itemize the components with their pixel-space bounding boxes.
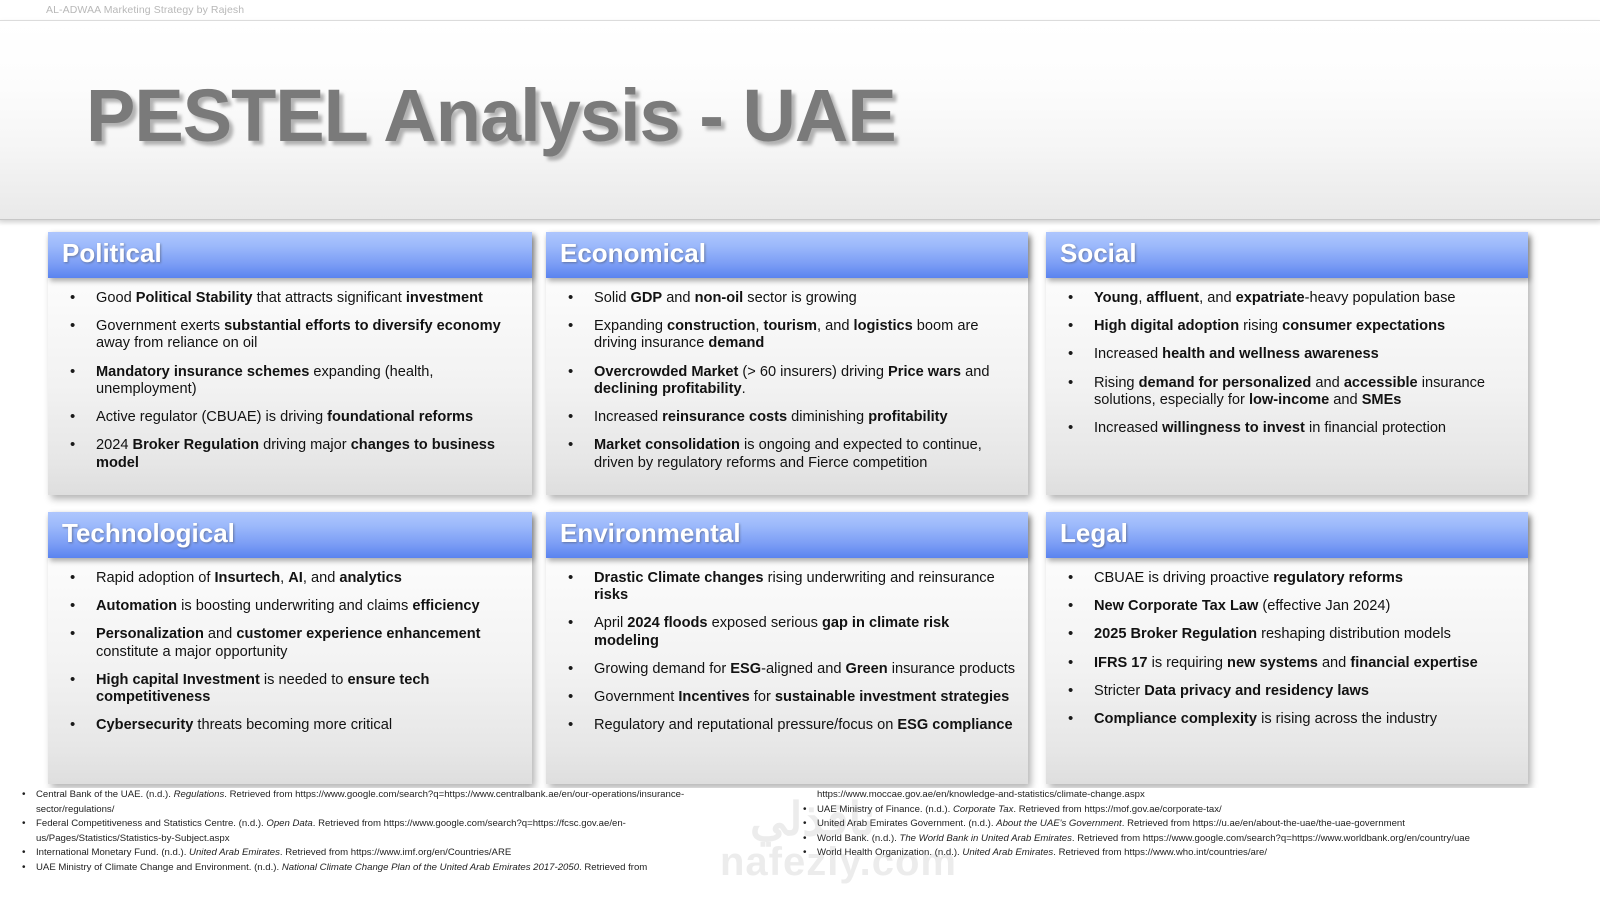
card-header-environmental: Environmental	[546, 512, 1028, 558]
bullet-list-environmental: Drastic Climate changes rising underwrit…	[556, 570, 1016, 735]
list-item: Expanding construction, tourism, and log…	[556, 318, 1016, 352]
pestel-card-political[interactable]: Political Good Political Stability that …	[48, 232, 532, 495]
list-item: 2024 Broker Regulation driving major cha…	[58, 437, 520, 471]
card-header-technological: Technological	[48, 512, 532, 558]
card-body-technological: Rapid adoption of Insurtech, AI, and ana…	[48, 558, 532, 754]
pestel-card-social[interactable]: Social Young, affluent, and expatriate-h…	[1046, 232, 1528, 495]
pestel-card-grid: Political Good Political Stability that …	[0, 0, 1600, 900]
card-body-legal: CBUAE is driving proactive regulatory re…	[1046, 558, 1528, 747]
bullet-list-legal: CBUAE is driving proactive regulatory re…	[1056, 570, 1516, 728]
list-item: Increased health and wellness awareness	[1056, 346, 1516, 363]
card-body-environmental: Drastic Climate changes rising underwrit…	[546, 558, 1028, 754]
reference-item: Federal Competitiveness and Statistics C…	[14, 817, 734, 846]
list-item: Regulatory and reputational pressure/foc…	[556, 717, 1016, 734]
list-item: Government Incentives for sustainable in…	[556, 689, 1016, 706]
reference-item: World Health Organization. (n.d.). Unite…	[795, 846, 1595, 861]
list-item: Cybersecurity threats becoming more crit…	[58, 717, 520, 734]
list-item: Increased willingness to invest in finan…	[1056, 420, 1516, 437]
reference-item: Central Bank of the UAE. (n.d.). Regulat…	[14, 788, 734, 817]
list-item: Solid GDP and non-oil sector is growing	[556, 290, 1016, 307]
list-item: High digital adoption rising consumer ex…	[1056, 318, 1516, 335]
card-body-social: Young, affluent, and expatriate-heavy po…	[1046, 278, 1528, 456]
card-header-political: Political	[48, 232, 532, 278]
bullet-list-economical: Solid GDP and non-oil sector is growingE…	[556, 290, 1016, 472]
references-column-left: Central Bank of the UAE. (n.d.). Regulat…	[14, 788, 734, 875]
card-title-social: Social	[1060, 238, 1137, 269]
reference-item: UAE Ministry of Finance. (n.d.). Corpora…	[795, 803, 1595, 818]
list-item: High capital Investment is needed to ens…	[58, 672, 520, 706]
list-item: Compliance complexity is rising across t…	[1056, 711, 1516, 728]
list-item: Drastic Climate changes rising underwrit…	[556, 570, 1016, 604]
list-item: Mandatory insurance schemes expanding (h…	[58, 364, 520, 398]
list-item: Increased reinsurance costs diminishing …	[556, 409, 1016, 426]
list-item: Personalization and customer experience …	[58, 626, 520, 660]
references-section: Central Bank of the UAE. (n.d.). Regulat…	[0, 788, 1600, 900]
reference-item: International Monetary Fund. (n.d.). Uni…	[14, 846, 734, 861]
list-item: 2025 Broker Regulation reshaping distrib…	[1056, 626, 1516, 643]
list-item: Good Political Stability that attracts s…	[58, 290, 520, 307]
list-item: CBUAE is driving proactive regulatory re…	[1056, 570, 1516, 587]
pestel-card-environmental[interactable]: Environmental Drastic Climate changes ri…	[546, 512, 1028, 784]
reference-item: UAE Ministry of Climate Change and Envir…	[14, 861, 734, 876]
list-item: Active regulator (CBUAE) is driving foun…	[58, 409, 520, 426]
bullet-list-political: Good Political Stability that attracts s…	[58, 290, 520, 472]
reference-item: https://www.moccae.gov.ae/en/knowledge-a…	[795, 788, 1595, 803]
card-title-technological: Technological	[62, 518, 235, 549]
card-header-economical: Economical	[546, 232, 1028, 278]
list-item: Growing demand for ESG-aligned and Green…	[556, 661, 1016, 678]
list-item: Market consolidation is ongoing and expe…	[556, 437, 1016, 471]
list-item: Automation is boosting underwriting and …	[58, 598, 520, 615]
reference-list-left: Central Bank of the UAE. (n.d.). Regulat…	[14, 788, 734, 875]
reference-item: United Arab Emirates Government. (n.d.).…	[795, 817, 1595, 832]
pestel-card-economical[interactable]: Economical Solid GDP and non-oil sector …	[546, 232, 1028, 495]
bullet-list-technological: Rapid adoption of Insurtech, AI, and ana…	[58, 570, 520, 735]
list-item: Young, affluent, and expatriate-heavy po…	[1056, 290, 1516, 307]
card-title-environmental: Environmental	[560, 518, 741, 549]
card-title-legal: Legal	[1060, 518, 1128, 549]
list-item: Rising demand for personalized and acces…	[1056, 375, 1516, 409]
reference-item: World Bank. (n.d.). The World Bank in Un…	[795, 832, 1595, 847]
references-column-right: https://www.moccae.gov.ae/en/knowledge-a…	[795, 788, 1595, 861]
card-title-economical: Economical	[560, 238, 706, 269]
card-header-legal: Legal	[1046, 512, 1528, 558]
card-header-social: Social	[1046, 232, 1528, 278]
list-item: Overcrowded Market (> 60 insurers) drivi…	[556, 364, 1016, 398]
card-body-political: Good Political Stability that attracts s…	[48, 278, 532, 491]
list-item: Stricter Data privacy and residency laws	[1056, 683, 1516, 700]
list-item: IFRS 17 is requiring new systems and fin…	[1056, 655, 1516, 672]
pestel-card-legal[interactable]: Legal CBUAE is driving proactive regulat…	[1046, 512, 1528, 784]
list-item: Government exerts substantial efforts to…	[58, 318, 520, 352]
reference-list-right: https://www.moccae.gov.ae/en/knowledge-a…	[795, 788, 1595, 861]
bullet-list-social: Young, affluent, and expatriate-heavy po…	[1056, 290, 1516, 437]
list-item: April 2024 floods exposed serious gap in…	[556, 615, 1016, 649]
card-body-economical: Solid GDP and non-oil sector is growingE…	[546, 278, 1028, 491]
pestel-card-technological[interactable]: Technological Rapid adoption of Insurtec…	[48, 512, 532, 784]
list-item: New Corporate Tax Law (effective Jan 202…	[1056, 598, 1516, 615]
list-item: Rapid adoption of Insurtech, AI, and ana…	[58, 570, 520, 587]
card-title-political: Political	[62, 238, 162, 269]
